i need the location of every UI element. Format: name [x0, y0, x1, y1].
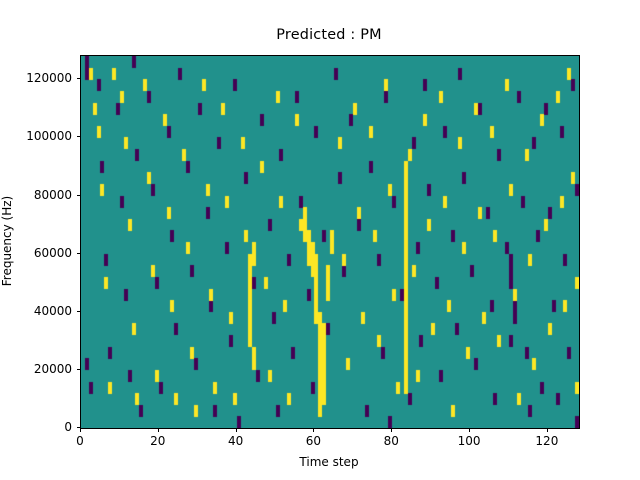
- x-tick-label: 0: [76, 434, 84, 448]
- y-tick-label: 0: [0, 420, 72, 434]
- y-tick-mark: [77, 195, 81, 196]
- x-tick-mark: [236, 428, 237, 432]
- y-axis-label: Frequency (Hz): [0, 196, 14, 287]
- heatmap-axes: [80, 55, 580, 429]
- x-tick-mark: [313, 428, 314, 432]
- x-tick-label: 80: [384, 434, 399, 448]
- x-tick-mark: [158, 428, 159, 432]
- y-tick-mark: [77, 78, 81, 79]
- y-tick-mark: [77, 136, 81, 137]
- y-tick-label: 40000: [0, 304, 72, 318]
- x-tick-mark: [469, 428, 470, 432]
- x-axis-label: Time step: [80, 455, 578, 469]
- x-tick-label: 40: [228, 434, 243, 448]
- x-tick-mark: [80, 428, 81, 432]
- y-tick-mark: [77, 253, 81, 254]
- x-tick-label: 20: [150, 434, 165, 448]
- x-tick-label: 100: [458, 434, 481, 448]
- y-tick-mark: [77, 311, 81, 312]
- y-tick-label: 100000: [0, 129, 72, 143]
- y-tick-label: 20000: [0, 362, 72, 376]
- x-tick-mark: [391, 428, 392, 432]
- x-tick-label: 120: [535, 434, 558, 448]
- chart-title: Predicted : PM: [80, 27, 578, 43]
- y-tick-mark: [77, 369, 81, 370]
- heatmap-canvas: [81, 56, 579, 428]
- y-tick-label: 120000: [0, 71, 72, 85]
- matplotlib-figure: Predicted : PM 0200004000060000800001000…: [0, 0, 640, 480]
- x-tick-label: 60: [306, 434, 321, 448]
- x-tick-mark: [547, 428, 548, 432]
